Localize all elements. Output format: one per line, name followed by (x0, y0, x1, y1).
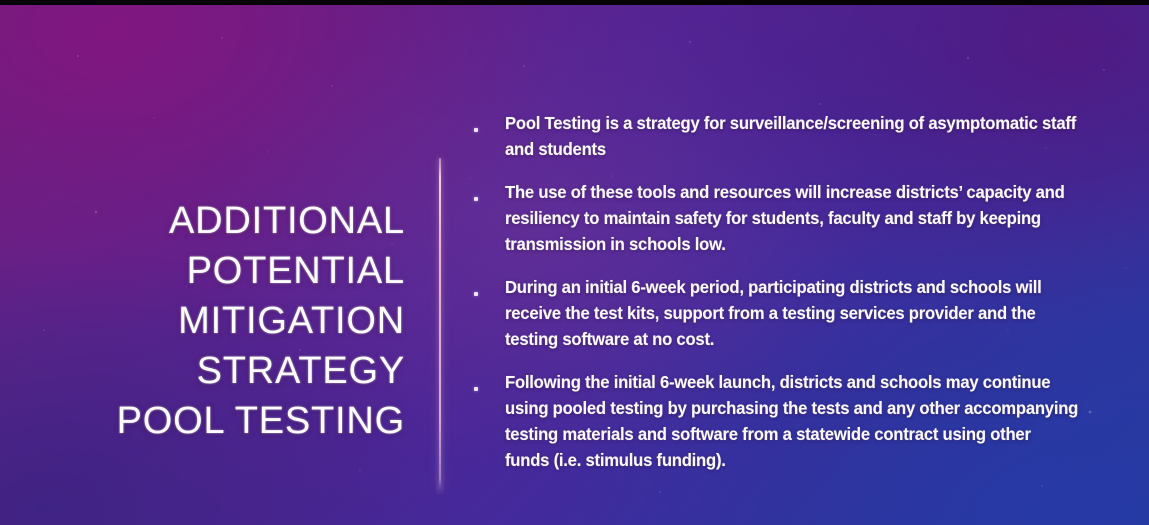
title-line-3: MITIGATION (40, 296, 405, 346)
bullet-text-2: The use of these tools and resources wil… (505, 179, 1078, 257)
title-line-4: STRATEGY (40, 346, 405, 396)
bullet-item: Pool Testing is a strategy for surveilla… (474, 110, 1099, 162)
bullet-text-1: Pool Testing is a strategy for surveilla… (505, 110, 1078, 162)
title-line-1: ADDITIONAL (40, 196, 405, 246)
slide-title: ADDITIONAL POTENTIAL MITIGATION STRATEGY… (40, 196, 405, 446)
bullet-marker-icon (474, 110, 505, 137)
title-line-5: POOL TESTING (40, 396, 405, 446)
bullet-text-4: Following the initial 6-week launch, dis… (505, 369, 1078, 473)
bullet-marker-icon (474, 369, 505, 396)
bullet-marker-icon (474, 274, 505, 301)
letterbox-bar-top (0, 0, 1149, 5)
slide-content: ADDITIONAL POTENTIAL MITIGATION STRATEGY… (0, 0, 1149, 525)
title-line-2: POTENTIAL (40, 246, 405, 296)
bullet-item: The use of these tools and resources wil… (474, 179, 1099, 257)
bullet-text-3: During an initial 6-week period, partici… (505, 274, 1078, 352)
bullet-item: During an initial 6-week period, partici… (474, 274, 1099, 352)
presentation-slide: ADDITIONAL POTENTIAL MITIGATION STRATEGY… (0, 0, 1149, 525)
vertical-divider-line (439, 158, 441, 492)
bullet-marker-icon (474, 179, 505, 206)
bullet-item: Following the initial 6-week launch, dis… (474, 369, 1099, 473)
bullet-list: Pool Testing is a strategy for surveilla… (474, 110, 1099, 473)
